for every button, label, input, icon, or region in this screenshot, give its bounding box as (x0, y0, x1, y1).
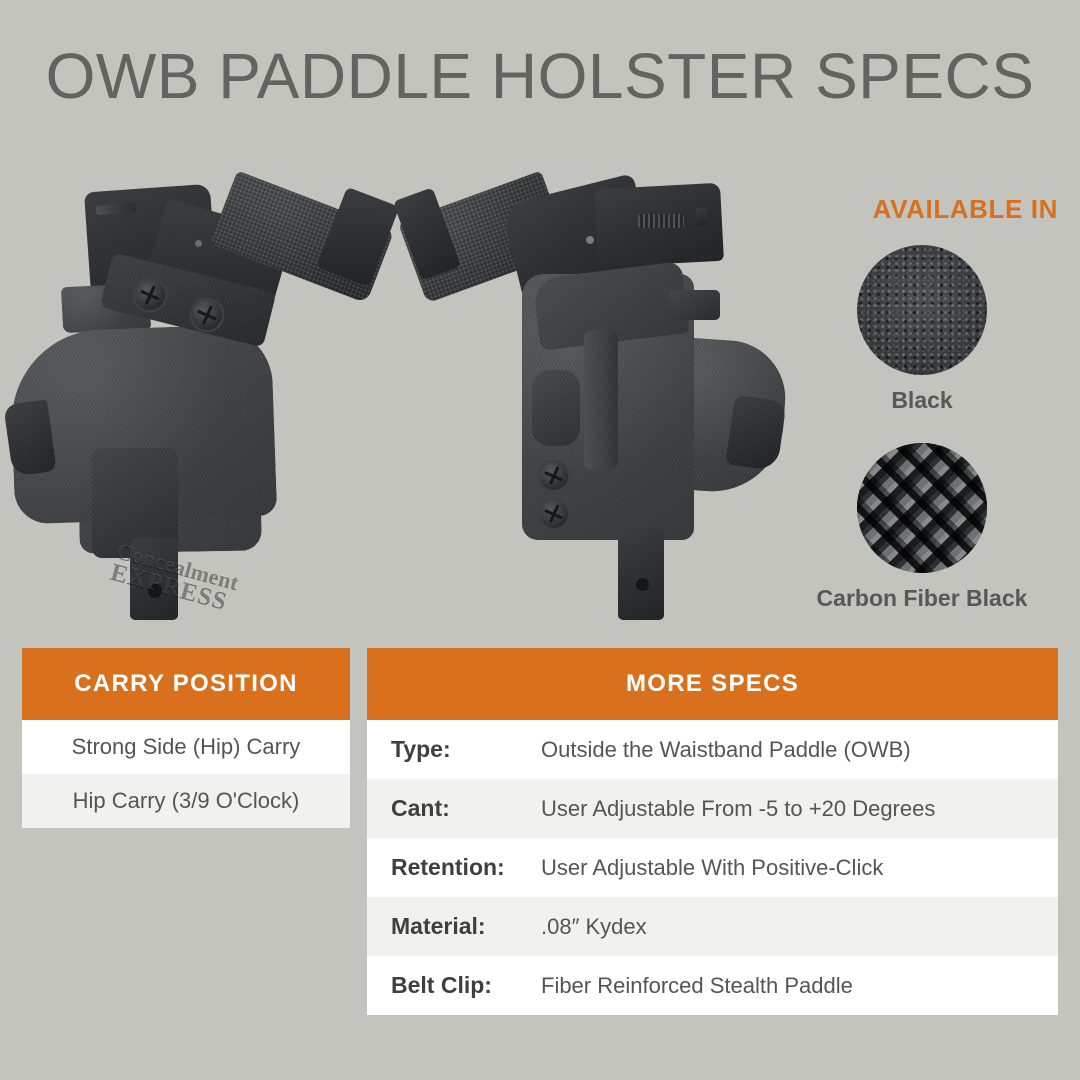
trigger-guard-bulge (532, 370, 580, 446)
available-in-heading: AVAILABLE IN (873, 194, 1058, 225)
retention-screw-lower[interactable] (540, 500, 568, 528)
carry-position-value: Strong Side (Hip) Carry (72, 734, 301, 760)
product-image-stage: Concealment EXPRESS (0, 180, 800, 635)
belt-clip-tongue (130, 538, 178, 620)
black-textured-swatch[interactable] (857, 245, 987, 375)
spec-label: Type: (391, 736, 541, 763)
carry-position-header: CARRY POSITION (22, 648, 350, 720)
spec-label: Belt Clip: (391, 972, 541, 999)
spec-label: Material: (391, 913, 541, 940)
retention-screw-upper[interactable] (540, 462, 568, 490)
spec-value: User Adjustable With Positive-Click (541, 855, 883, 881)
table-row: Material: .08″ Kydex (367, 897, 1058, 956)
belt-clip-tongue-hole (636, 578, 649, 591)
table-row: Cant: User Adjustable From -5 to +20 Deg… (367, 779, 1058, 838)
spec-value: Fiber Reinforced Stealth Paddle (541, 973, 853, 999)
spec-label: Retention: (391, 854, 541, 881)
spec-value: .08″ Kydex (541, 914, 647, 940)
table-row: Hip Carry (3/9 O'Clock) (22, 774, 350, 828)
color-option-black[interactable]: Black (857, 245, 987, 414)
takedown-pin (586, 236, 594, 244)
belt-clip-tongue-hole (148, 584, 162, 598)
table-row: Type: Outside the Waistband Paddle (OWB) (367, 720, 1058, 779)
table-row: Belt Clip: Fiber Reinforced Stealth Padd… (367, 956, 1058, 1015)
table-row: Strong Side (Hip) Carry (22, 720, 350, 774)
paddle-mount-tab (668, 290, 720, 320)
retention-screw-lower[interactable] (192, 300, 222, 330)
owb-paddle-holster-rear-view: Concealment EXPRESS (0, 180, 420, 625)
slide-front-serrations (638, 214, 684, 228)
more-specs-header: MORE SPECS (367, 648, 1058, 720)
belt-clip-tongue (618, 528, 664, 620)
spec-label: Cant: (391, 795, 541, 822)
table-row: Retention: User Adjustable With Positive… (367, 838, 1058, 897)
owb-paddle-holster-front-view (400, 180, 800, 625)
page-title: OWB PADDLE HOLSTER SPECS (0, 46, 1080, 106)
light-bezel-ridge (584, 330, 618, 470)
color-option-black-label: Black (857, 387, 987, 414)
retention-screw-upper[interactable] (135, 280, 165, 310)
carry-position-table: CARRY POSITION Strong Side (Hip) Carry H… (22, 648, 350, 828)
takedown-pin (195, 240, 202, 247)
front-sight (696, 208, 706, 226)
magazine-baseplate (316, 187, 399, 287)
spec-value: Outside the Waistband Paddle (OWB) (541, 737, 911, 763)
paddle-wing-hook (725, 395, 786, 472)
color-option-carbon-fiber-black-label: Carbon Fiber Black (802, 585, 1042, 612)
more-specs-table: MORE SPECS Type: Outside the Waistband P… (367, 648, 1058, 1015)
spec-value: User Adjustable From -5 to +20 Degrees (541, 796, 935, 822)
carry-position-value: Hip Carry (3/9 O'Clock) (73, 788, 300, 814)
color-option-carbon-fiber-black[interactable]: Carbon Fiber Black (857, 443, 987, 612)
carbon-fiber-swatch[interactable] (857, 443, 987, 573)
